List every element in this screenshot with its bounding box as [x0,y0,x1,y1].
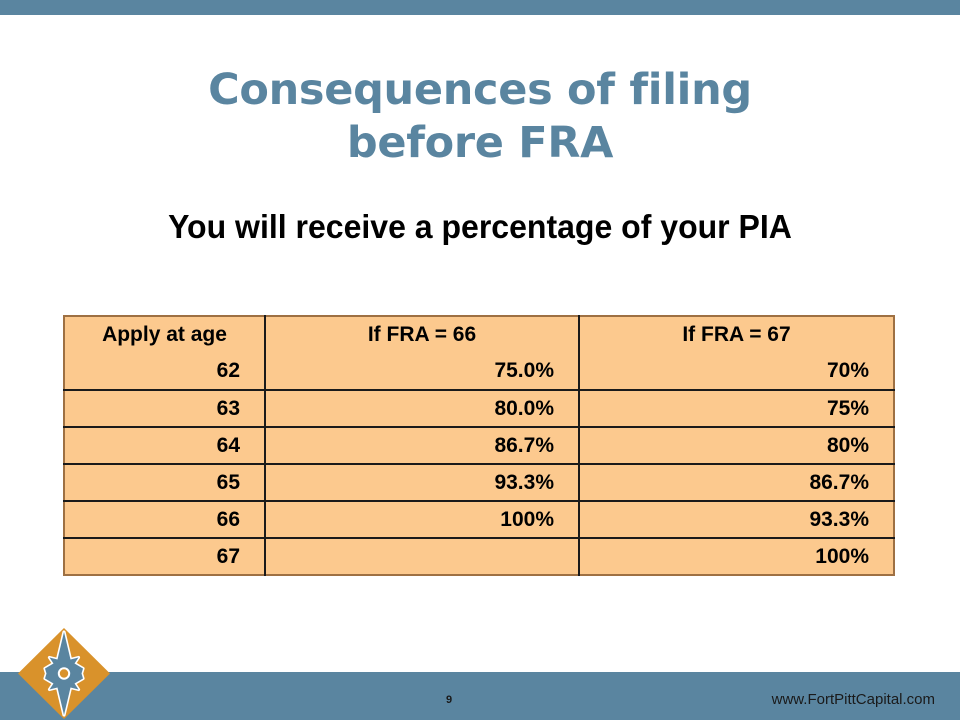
slide-canvas: Consequences of filing before FRA You wi… [0,0,960,720]
cell-fra67: 70% [579,353,894,390]
table-row: 65 93.3% 86.7% [64,464,894,501]
page-title-line-1: Consequences of filing [0,64,960,117]
cell-fra66: 86.7% [265,427,579,464]
cell-fra67: 86.7% [579,464,894,501]
cell-age: 66 [64,501,265,538]
pia-percentage-table: Apply at age If FRA = 66 If FRA = 67 62 … [63,315,895,576]
page-number: 9 [446,694,452,707]
fort-pitt-capital-compass-logo-icon [17,627,111,720]
cell-age: 64 [64,427,265,464]
table-row: 66 100% 93.3% [64,501,894,538]
table-row: 63 80.0% 75% [64,390,894,427]
cell-fra66 [265,538,579,575]
table-row: 62 75.0% 70% [64,353,894,390]
page-subtitle: You will receive a percentage of your PI… [14,207,945,247]
cell-fra67: 75% [579,390,894,427]
cell-age: 62 [64,353,265,390]
pia-percentage-table-wrapper: Apply at age If FRA = 66 If FRA = 67 62 … [63,315,893,576]
cell-age: 65 [64,464,265,501]
cell-age: 67 [64,538,265,575]
page-title-line-2: before FRA [0,117,960,170]
table-header-row: Apply at age If FRA = 66 If FRA = 67 [64,316,894,353]
cell-age: 63 [64,390,265,427]
page-title: Consequences of filing before FRA [0,64,960,170]
column-header-apply-at-age: Apply at age [64,316,265,353]
table-row: 64 86.7% 80% [64,427,894,464]
cell-fra66: 100% [265,501,579,538]
column-header-if-fra-67: If FRA = 67 [579,316,894,353]
table-row: 67 100% [64,538,894,575]
cell-fra66: 93.3% [265,464,579,501]
column-header-if-fra-66: If FRA = 66 [265,316,579,353]
cell-fra66: 80.0% [265,390,579,427]
cell-fra67: 100% [579,538,894,575]
cell-fra67: 93.3% [579,501,894,538]
cell-fra66: 75.0% [265,353,579,390]
top-accent-bar [0,0,960,15]
cell-fra67: 80% [579,427,894,464]
website-url: www.FortPittCapital.com [772,691,935,709]
